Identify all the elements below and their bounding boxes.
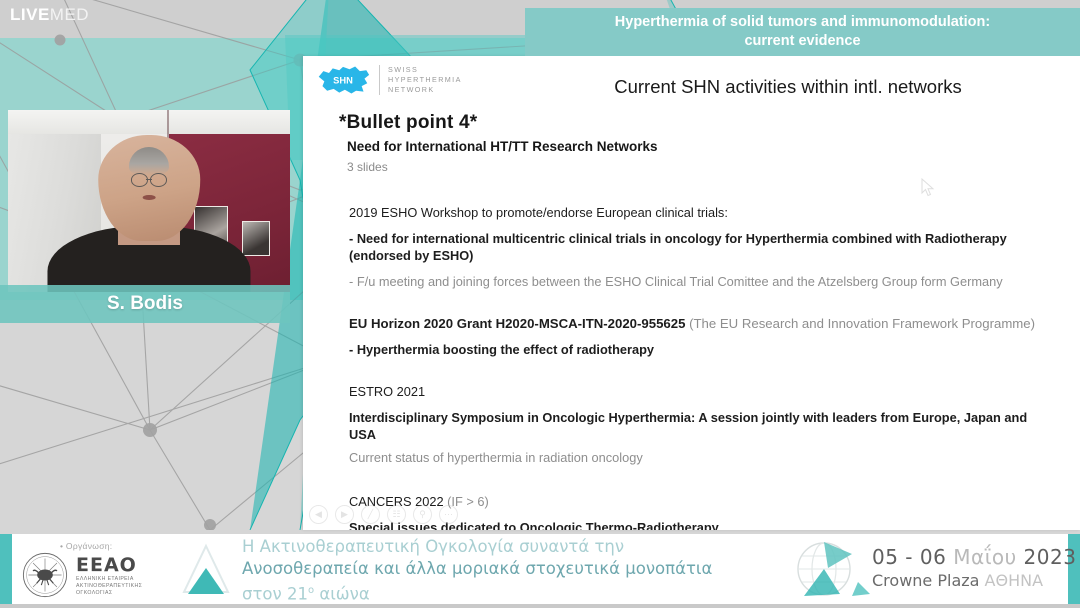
logo-divider xyxy=(379,65,380,95)
shn-logo-wordmark: SWISS HYPERTHERMIA NETWORK xyxy=(388,65,462,95)
livemed-logo-primary: LIVE xyxy=(10,5,50,24)
slide-bullet-header: *Bullet point 4* Need for International … xyxy=(303,112,1080,174)
zoom-search-icon[interactable]: ⚲ xyxy=(413,505,432,524)
slide-count: 3 slides xyxy=(339,160,1080,174)
congress-dates-month: Μαΐου xyxy=(953,545,1017,569)
congress-dates-year: 2023 xyxy=(1017,545,1077,569)
video-ceiling xyxy=(8,110,290,134)
group-heading-grey: (The EU Research and Innovation Framewor… xyxy=(685,316,1035,331)
group-bold-line: - Need for international multicentric cl… xyxy=(349,230,1056,264)
next-slide-icon[interactable]: ▶ xyxy=(335,505,354,524)
banner-accent-left xyxy=(0,534,12,604)
group-grey-line: - F/u meeting and joining forces between… xyxy=(349,273,1056,290)
congress-venue-city: ΑΘΗΝΑ xyxy=(985,571,1043,590)
organizer-logo: ΕΕΑΟ ΕΛΛΗΝΙΚΗ ΕΤΑΙΡΕΙΑ ΑΚΤΙΝΟΘΕΡΑΠΕΥΤΙΚΗ… xyxy=(22,552,142,598)
congress-date-venue: 05 - 06 Μαΐου 2023 Crowne Plaza ΑΘΗΝΑ xyxy=(872,544,1076,592)
congress-title-line-3: στον 21ο αιώνα xyxy=(242,580,802,606)
session-title-banner: Hyperthermia of solid tumors and immunom… xyxy=(525,8,1080,56)
bullet-subtitle: Need for International HT/TT Research Ne… xyxy=(339,139,1080,154)
presentation-slide[interactable]: SHN SWISS HYPERTHERMIA NETWORK Current S… xyxy=(303,56,1080,530)
speaker-mouth xyxy=(142,195,155,200)
wall-picture-frame-2 xyxy=(242,221,270,256)
livemed-logo-secondary: MED xyxy=(50,5,89,24)
congress-title-line-3a: στον 21 xyxy=(242,585,308,604)
swiss-map-icon: SHN xyxy=(315,64,371,96)
previous-slide-icon[interactable]: ◀ xyxy=(309,505,328,524)
eeao-fullname-line-1: ΕΛΛΗΝΙΚΗ ΕΤΑΙΡΕΙΑ xyxy=(76,576,142,583)
shn-word-line-2: HYPERTHERMIA xyxy=(388,75,462,85)
svg-text:SHN: SHN xyxy=(333,75,353,85)
group-grey-line: Current status of hyperthermia in radiat… xyxy=(349,449,1056,466)
group-heading-bold: EU Horizon 2020 Grant H2020-MSCA-ITN-202… xyxy=(349,316,685,331)
livemed-logo: LIVEMED xyxy=(10,5,89,25)
shn-word-line-1: SWISS xyxy=(388,65,462,75)
eeao-fullname-line-3: ΟΓΚΟΛΟΓΙΑΣ xyxy=(76,590,142,597)
slide-control-bar[interactable]: ◀ ▶ ╱ ☷ ⚲ ⋯ xyxy=(309,505,458,524)
session-title-line-1: Hyperthermia of solid tumors and immunom… xyxy=(615,13,990,32)
congress-title-line-1: Η Ακτινοθεραπευτική Ογκολογία συναντά τη… xyxy=(242,536,802,558)
glasses-bridge xyxy=(146,179,152,181)
congress-title: Η Ακτινοθεραπευτική Ογκολογία συναντά τη… xyxy=(242,536,802,606)
speaker-name-bar: S. Bodis xyxy=(0,285,290,323)
slide-body: 2019 ESHO Workshop to promote/endorse Eu… xyxy=(303,204,1080,530)
bullet-marker: *Bullet point 4* xyxy=(339,112,1080,134)
group-heading: 2019 ESHO Workshop to promote/endorse Eu… xyxy=(349,204,1056,221)
speaker-glasses xyxy=(131,173,168,185)
speaker-head xyxy=(98,135,200,241)
slide-title: Current SHN activities within intl. netw… xyxy=(508,76,1068,98)
slide-grid-icon[interactable]: ☷ xyxy=(387,505,406,524)
triangle-decoration-icon xyxy=(176,542,236,598)
globe-decoration-icon xyxy=(790,538,874,600)
slide-header: SHN SWISS HYPERTHERMIA NETWORK Current S… xyxy=(303,56,1080,108)
shn-logo: SHN SWISS HYPERTHERMIA NETWORK xyxy=(315,64,462,96)
congress-title-line-3b: αιώνα xyxy=(314,585,370,604)
congress-venue-name: Crowne Plaza xyxy=(872,571,985,590)
group-bold-line: - Hyperthermia boosting the effect of ra… xyxy=(349,341,1056,358)
content-group-estro: ESTRO 2021 Interdisciplinary Symposium i… xyxy=(349,383,1056,466)
congress-dates-days: 05 - 06 xyxy=(872,545,953,569)
content-group-eu-horizon: EU Horizon 2020 Grant H2020-MSCA-ITN-202… xyxy=(349,315,1056,358)
shn-word-line-3: NETWORK xyxy=(388,85,462,95)
group-bold-line: Interdisciplinary Symposium in Oncologic… xyxy=(349,409,1056,443)
speaker-video-feed[interactable] xyxy=(8,110,290,292)
more-menu-icon[interactable]: ⋯ xyxy=(439,505,458,524)
congress-title-line-2: Ανοσοθεραπεία και άλλα μοριακά στοχευτικ… xyxy=(242,558,802,580)
congress-dates: 05 - 06 Μαΐου 2023 xyxy=(872,544,1076,570)
eeao-wordmark: ΕΕΑΟ ΕΛΛΗΝΙΚΗ ΕΤΑΙΡΕΙΑ ΑΚΤΙΝΟΘΕΡΑΠΕΥΤΙΚΗ… xyxy=(76,554,142,597)
broadcast-viewport: LIVEMED Hyperthermia of solid tumors and… xyxy=(0,0,1080,608)
annotate-pen-icon[interactable]: ╱ xyxy=(361,505,380,524)
eeao-acronym: ΕΕΑΟ xyxy=(76,554,142,576)
speaker-name: S. Bodis xyxy=(107,293,183,315)
group-heading: ESTRO 2021 xyxy=(349,383,1056,400)
session-title-line-2: current evidence xyxy=(744,32,860,51)
content-group-esho: 2019 ESHO Workshop to promote/endorse Eu… xyxy=(349,204,1056,290)
eeao-fullname-line-2: ΑΚΤΙΝΟΘΕΡΑΠΕΥΤΙΚΗΣ xyxy=(76,583,142,590)
congress-banner: • Οργάνωση: ΕΕΑΟ ΕΛΛΗΝΙΚΗ ΕΤΑΙΡΕΙΑ ΑΚΤΙΝ… xyxy=(0,530,1080,608)
speaker-hair xyxy=(129,147,170,174)
congress-venue: Crowne Plaza ΑΘΗΝΑ xyxy=(872,570,1076,592)
eeao-seal-icon xyxy=(22,552,68,598)
organizer-label: • Οργάνωση: xyxy=(60,541,112,551)
mouse-cursor-icon xyxy=(921,178,935,198)
group-heading: EU Horizon 2020 Grant H2020-MSCA-ITN-202… xyxy=(349,315,1056,332)
